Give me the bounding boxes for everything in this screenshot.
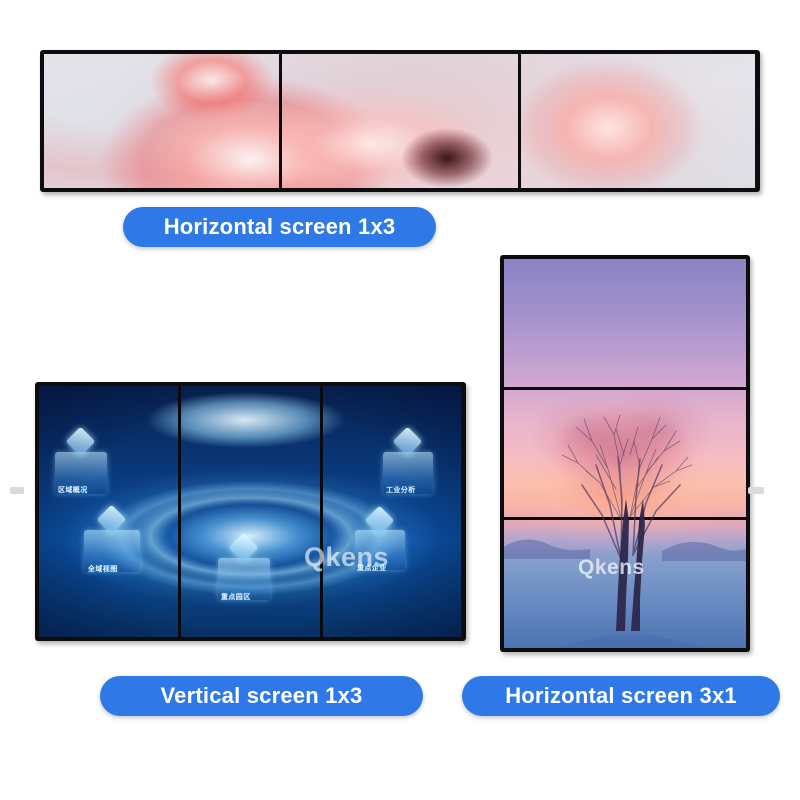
screen-tile[interactable] [181,386,320,637]
screen-tile[interactable] [504,259,746,387]
caption-vertical-1x3: Vertical screen 1x3 [100,676,423,716]
bloom-wallpaper-art [282,54,517,188]
video-wall-tile-grid [39,386,462,637]
winter-tree-art [504,259,746,387]
bloom-wallpaper-art [521,54,755,188]
connector-nub [10,487,24,494]
screen-tile[interactable] [504,520,746,648]
caption-horizontal-1x3: Horizontal screen 1x3 [123,207,436,247]
screen-tile[interactable] [39,386,178,637]
dashboard-art [39,386,178,637]
winter-tree-art [504,520,746,648]
connector-nub [748,487,764,494]
video-wall-tile-grid [504,259,746,648]
video-wall-horizontal-1x3[interactable] [40,50,760,192]
winter-tree-art [504,390,746,518]
screen-tile[interactable] [504,390,746,518]
screen-tile[interactable] [323,386,462,637]
video-wall-horizontal-3x1[interactable] [500,255,750,652]
video-wall-tile-grid [44,54,756,188]
bloom-wallpaper-art [44,54,279,188]
screen-tile[interactable] [521,54,756,188]
dashboard-art [323,386,461,637]
video-wall-vertical-1x3[interactable] [35,382,466,641]
caption-horizontal-3x1: Horizontal screen 3x1 [462,676,780,716]
screen-tile[interactable] [282,54,517,188]
dashboard-art [181,386,320,637]
screen-tile[interactable] [44,54,279,188]
